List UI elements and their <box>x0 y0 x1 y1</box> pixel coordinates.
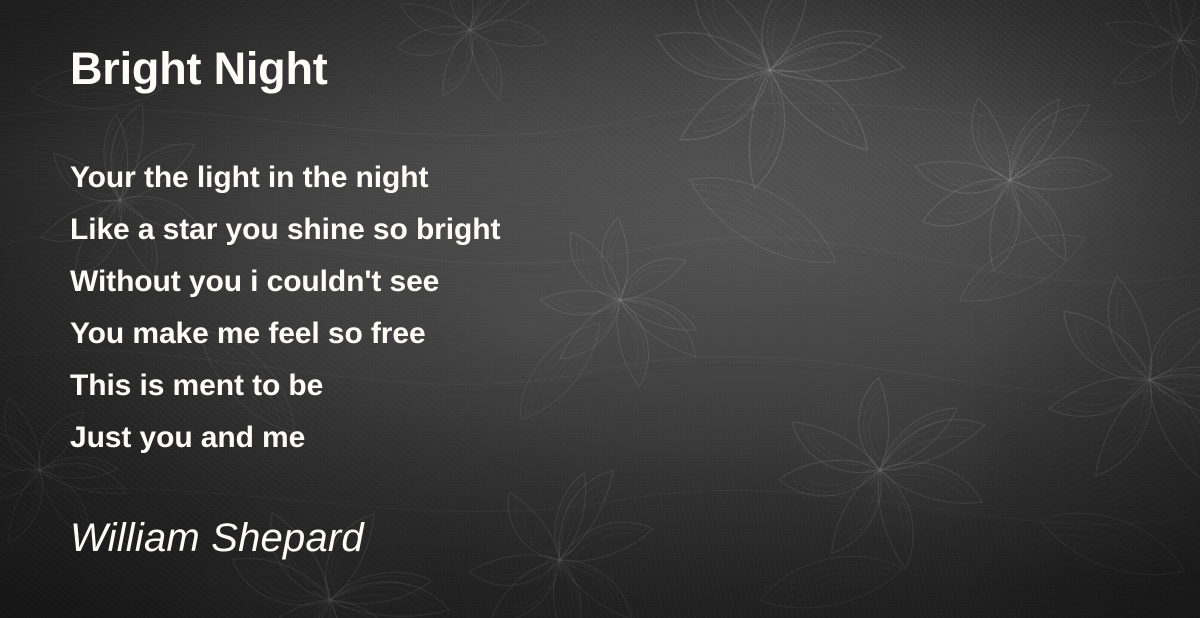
poem-line: You make me feel so free <box>70 308 500 360</box>
poem-line: Just you and me <box>70 412 500 464</box>
poem-body: Your the light in the night Like a star … <box>70 152 500 464</box>
poem-line: This is ment to be <box>70 360 500 412</box>
poem-line: Without you i couldn't see <box>70 256 500 308</box>
poem-author: William Shepard <box>70 518 364 558</box>
poem-content: Bright Night Your the light in the night… <box>0 0 1200 618</box>
poem-title: Bright Night <box>70 46 328 91</box>
poem-line: Your the light in the night <box>70 152 500 204</box>
poem-card: Bright Night Your the light in the night… <box>0 0 1200 618</box>
poem-line: Like a star you shine so bright <box>70 204 500 256</box>
